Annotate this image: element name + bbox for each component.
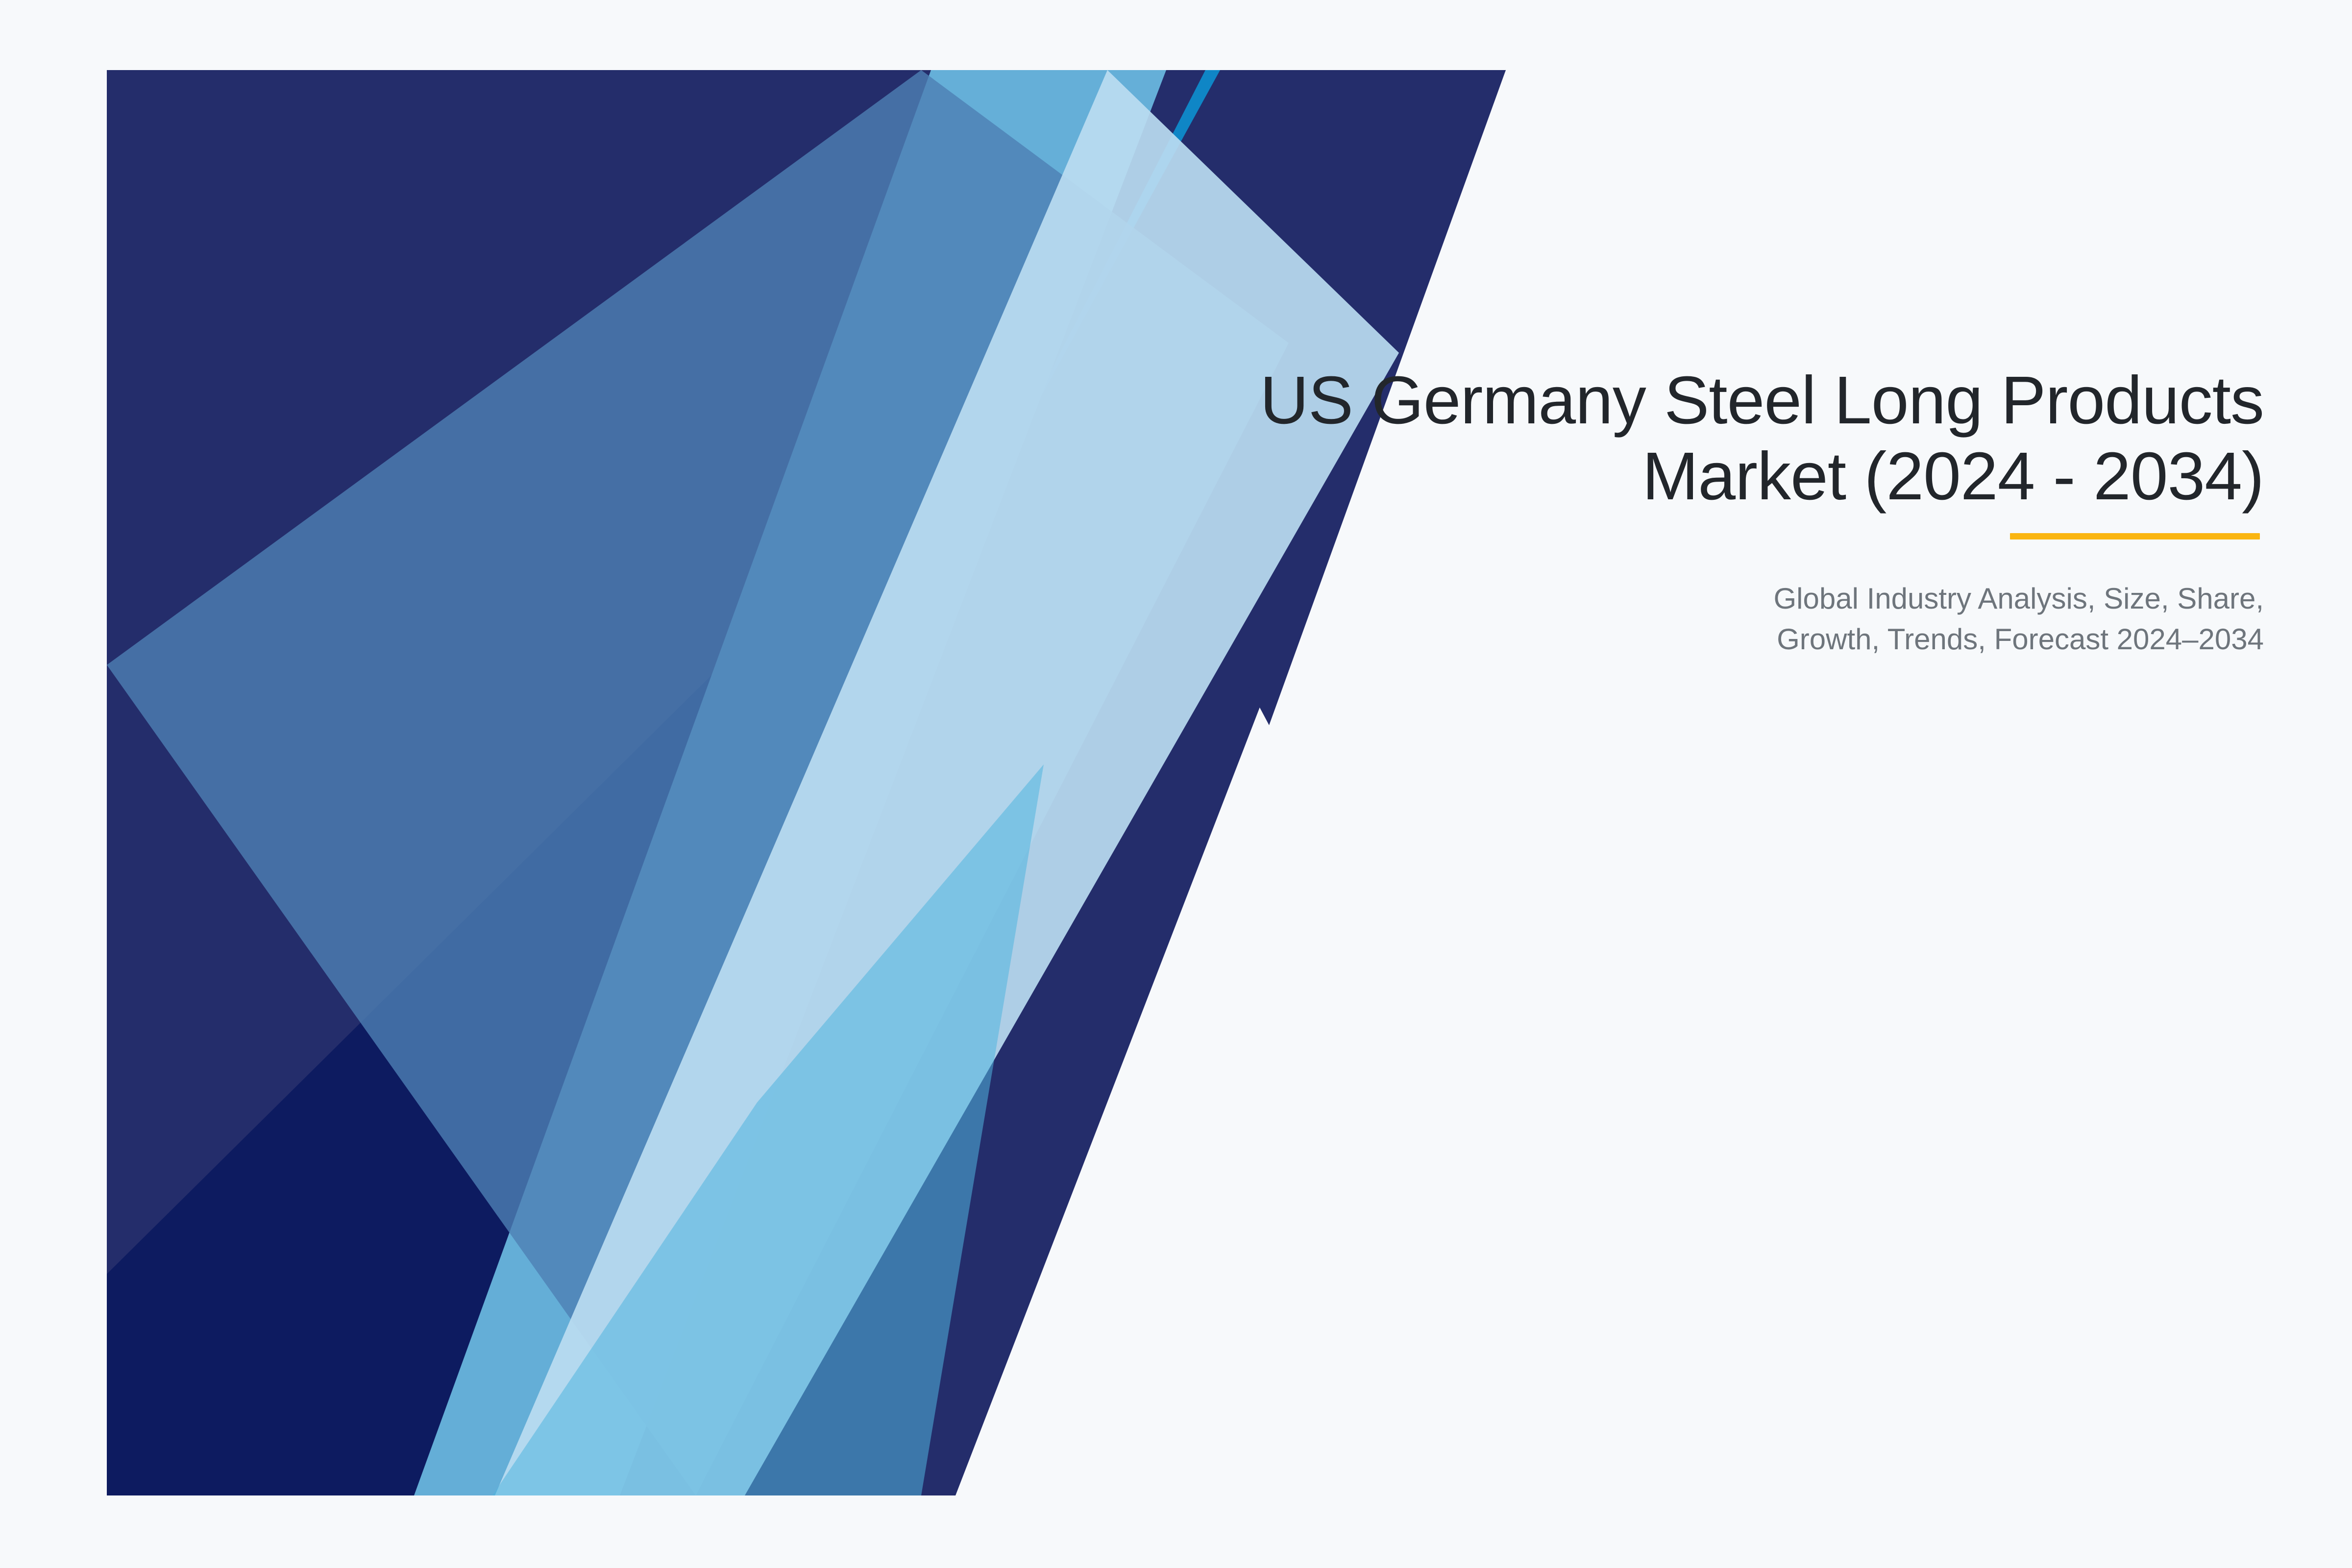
report-cover: US Germany Steel Long Products Market (2… [0,0,2352,1568]
shape-sky-blue-band [414,70,1166,1495]
shape-pale-blue-overlay [495,70,1399,1495]
page-subtitle: Global Industry Analysis, Size, Share, G… [980,579,2264,660]
page-title: US Germany Steel Long Products Market (2… [980,363,2264,514]
shape-navy-sweep [107,70,1506,1495]
shape-steel-blue-quad [107,70,1289,1495]
title-accent-underline [2010,533,2260,539]
shape-bright-blue-field [107,70,1506,1495]
title-wrapper: US Germany Steel Long Products Market (2… [980,363,2264,514]
cover-text-block: US Germany Steel Long Products Market (2… [980,363,2264,660]
shape-deep-navy-shard [107,671,715,1495]
shape-sky-blue-sliver [492,764,1044,1495]
abstract-geometric-artwork [0,0,2352,1568]
